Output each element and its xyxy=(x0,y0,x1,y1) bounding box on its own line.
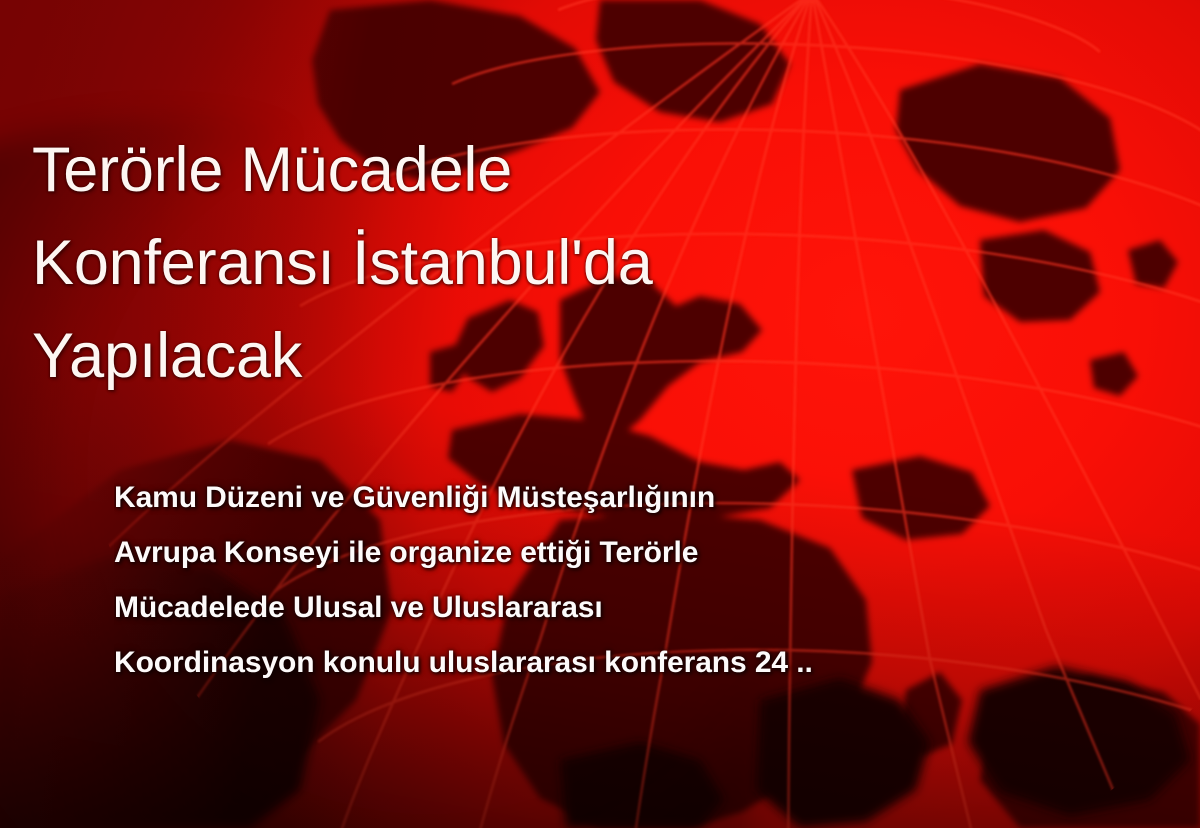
news-image-card: Terörle Mücadele Konferansı İstanbul'da … xyxy=(0,0,1200,828)
article-summary: Kamu Düzeni ve Güvenliği Müsteşarlığının… xyxy=(114,470,1200,690)
summary-line: Koordinasyon konulu uluslararası konfera… xyxy=(114,635,1200,690)
page-title: Terörle Mücadele Konferansı İstanbul'da … xyxy=(32,124,1032,403)
summary-line: Mücadelede Ulusal ve Uluslararası xyxy=(114,580,1200,635)
summary-line: Kamu Düzeni ve Güvenliği Müsteşarlığının xyxy=(114,470,1200,525)
text-overlay: Terörle Mücadele Konferansı İstanbul'da … xyxy=(0,0,1200,828)
summary-line: Avrupa Konseyi ile organize ettiği Terör… xyxy=(114,525,1200,580)
